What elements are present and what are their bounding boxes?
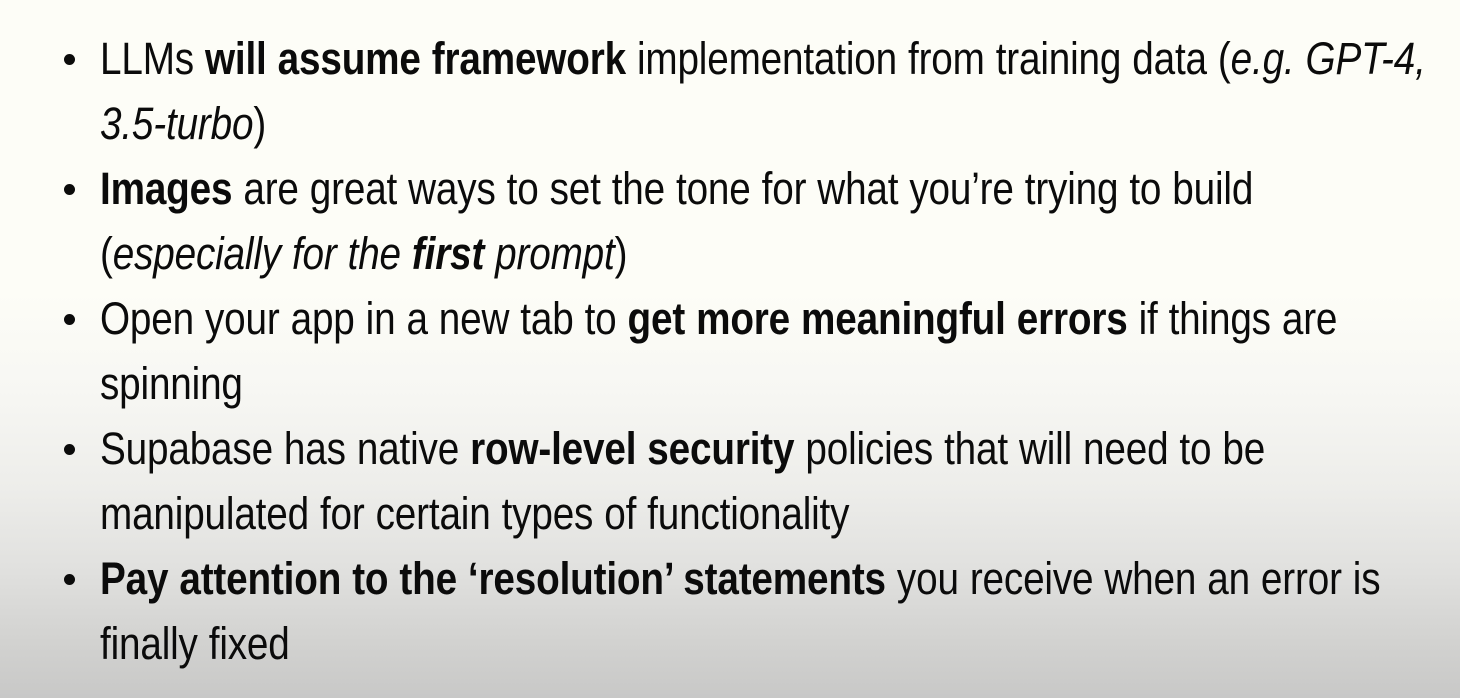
text-run: ) xyxy=(253,98,266,149)
list-item: Supabase has native row-level security p… xyxy=(0,416,1460,546)
bullet-point-icon xyxy=(64,444,75,455)
text-run: Supabase has native xyxy=(100,423,470,474)
text-run: will assume framework xyxy=(205,33,626,84)
text-run: Pay attention to the ‘resolution’ statem… xyxy=(100,553,886,604)
list-item: Open your app in a new tab to get more m… xyxy=(0,286,1460,416)
list-item: Pay attention to the ‘resolution’ statem… xyxy=(0,546,1460,676)
list-item-text: Open your app in a new tab to get more m… xyxy=(100,286,1441,416)
list-item-text: Supabase has native row-level security p… xyxy=(100,416,1441,546)
text-run: Images xyxy=(100,163,232,214)
list-item-text: Images are great ways to set the tone fo… xyxy=(100,156,1441,286)
text-run: implementation from training data ( xyxy=(626,33,1231,84)
text-run: first xyxy=(412,228,484,279)
bullet-point-icon xyxy=(64,54,75,65)
list-item: Images are great ways to set the tone fo… xyxy=(0,156,1460,286)
bullet-point-icon xyxy=(64,574,75,585)
bullet-point-icon xyxy=(64,314,75,325)
bullet-point-icon xyxy=(64,184,75,195)
list-item: LLMs will assume framework implementatio… xyxy=(0,26,1460,156)
text-run: Open your app in a new tab to xyxy=(100,293,628,344)
bullet-list: LLMs will assume framework implementatio… xyxy=(0,26,1460,676)
text-run: row-level security xyxy=(470,423,794,474)
text-run: prompt xyxy=(484,228,614,279)
slide-canvas: LLMs will assume framework implementatio… xyxy=(0,0,1460,698)
list-item-text: LLMs will assume framework implementatio… xyxy=(100,26,1441,156)
text-run: get more meaningful errors xyxy=(628,293,1128,344)
text-run: ) xyxy=(615,228,628,279)
text-run: LLMs xyxy=(100,33,205,84)
text-run: especially for the xyxy=(113,228,412,279)
list-item-text: Pay attention to the ‘resolution’ statem… xyxy=(100,546,1441,676)
